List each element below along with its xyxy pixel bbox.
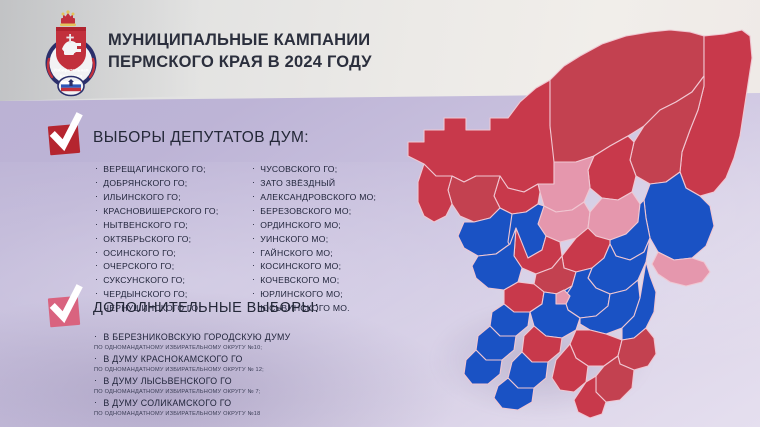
deputy-list-item: ·ЗАТО Звёздный: [252, 177, 397, 191]
deputy-list-item: ·Чусовского ГО;: [252, 163, 397, 177]
deputy-list-item: ·Ильинского ГО;: [95, 191, 240, 205]
deputy-list-item: ·Добрянского ГО;: [95, 177, 240, 191]
deputy-list-item-label: Чусовского ГО;: [260, 163, 337, 177]
deputy-list-item-label: Ординского МО;: [260, 219, 341, 233]
additional-list-item: ·В Березниковскую городскую думупо одном…: [94, 332, 387, 352]
deputy-list-item: ·Березовского МО;: [252, 205, 397, 219]
bullet-dot-icon: ·: [252, 275, 255, 284]
deputy-list-item-label: Красновишерского ГО;: [103, 205, 218, 219]
bullet-dot-icon: ·: [95, 192, 98, 201]
deputy-list-item: ·Косинского МО;: [252, 260, 397, 274]
bullet-dot-icon: ·: [252, 164, 255, 173]
additional-item-district: по одномандатному избирательному округу …: [94, 410, 387, 418]
slide-root: Избирательная Комиссия Муниципальные кам…: [0, 0, 760, 427]
deputy-list-item-label: Ильинского ГО;: [103, 191, 181, 205]
additional-list-item: ·В думу Соликамского ГОпо одномандатному…: [94, 398, 387, 418]
checkmark-icon-red: [46, 120, 86, 158]
section-deputy-header: Выборы депутатов дум:: [47, 120, 397, 157]
deputy-list-item: ·Гайнского МО;: [252, 247, 397, 261]
additional-item-title-label: В думу Лысьвенского ГО: [103, 376, 232, 388]
bullet-dot-icon: ·: [252, 220, 255, 229]
deputy-list-item: ·Нытвенского ГО;: [95, 219, 240, 233]
bullet-dot-icon: ·: [252, 261, 255, 270]
bullet-dot-icon: ·: [95, 164, 98, 173]
deputy-list-item-label: Октябрьского ГО;: [103, 233, 191, 247]
deputy-list-item-label: Очерского ГО;: [103, 260, 174, 274]
additional-item-district: по одномандатному избирательному округу …: [94, 366, 387, 374]
bullet-dot-icon: ·: [94, 376, 97, 385]
emblem-text-top: Избирательная: [53, 67, 88, 73]
deputy-list-item: ·Красновишерского ГО;: [95, 205, 240, 219]
deputy-list-item: ·Верещагинского ГО;: [95, 163, 240, 177]
deputy-list-item: ·Уинского МО;: [252, 233, 397, 247]
additional-item-title-label: В думу Соликамского ГО: [103, 398, 231, 410]
deputy-list-item-label: Гайнского МО;: [260, 247, 333, 261]
izbiratelnaya-komissiya-emblem: Избирательная Комиссия: [37, 9, 105, 97]
additional-item-title: ·В думу Соликамского ГО: [94, 398, 387, 410]
deputy-list-item: ·Октябрьского ГО;: [95, 233, 240, 247]
perm-krai-map: [404, 6, 760, 418]
deputy-list-item-label: Добрянского ГО;: [103, 177, 187, 191]
bullet-dot-icon: ·: [94, 398, 97, 407]
deputy-list-item: ·Суксунского ГО;: [95, 274, 240, 288]
bullet-dot-icon: ·: [95, 206, 98, 215]
additional-items-list: ·В Березниковскую городскую думупо одном…: [47, 332, 387, 418]
section-additional-header: Дополнительные выборы:: [47, 292, 387, 329]
bullet-dot-icon: ·: [95, 220, 98, 229]
bullet-dot-icon: ·: [252, 192, 255, 201]
additional-list-item: ·В думу Краснокамского ГОпо одномандатно…: [94, 354, 387, 374]
deputy-list-item-label: Косинского МО;: [260, 260, 341, 274]
deputy-list-item-label: Нытвенского ГО;: [103, 219, 188, 233]
deputy-list-item: ·Осинского ГО;: [95, 247, 240, 261]
section-deputy-title: Выборы депутатов дум:: [93, 120, 309, 147]
deputy-list-item-label: Верещагинского ГО;: [103, 163, 206, 177]
deputy-list-item-label: ЗАТО Звёздный: [260, 177, 335, 191]
deputy-list-item-label: Уинского МО;: [260, 233, 328, 247]
bullet-dot-icon: ·: [252, 206, 255, 215]
bullet-dot-icon: ·: [252, 248, 255, 257]
deputy-list-item-label: Березовского МО;: [260, 205, 351, 219]
bullet-dot-icon: ·: [95, 234, 98, 243]
page-title: Муниципальные кампании Пермского края в …: [108, 30, 438, 74]
additional-item-title: ·В думу Лысьвенского ГО: [94, 376, 387, 388]
bullet-dot-icon: ·: [252, 178, 255, 187]
additional-item-title-label: В думу Краснокамского ГО: [103, 354, 242, 366]
bullet-dot-icon: ·: [95, 275, 98, 284]
checkmark-icon-pink: [46, 292, 86, 330]
deputy-list-item-label: Александровского МО;: [260, 191, 376, 205]
bullet-dot-icon: ·: [94, 354, 97, 363]
bullet-dot-icon: ·: [95, 178, 98, 187]
section-deputy-elections: Выборы депутатов дум: ·Верещагинского ГО…: [47, 120, 397, 316]
additional-item-title-label: В Березниковскую городскую думу: [103, 332, 290, 344]
deputy-list-item: ·Александровского МО;: [252, 191, 397, 205]
additional-item-title: ·В думу Краснокамского ГО: [94, 354, 387, 366]
deputy-list-item-label: Кочевского МО;: [260, 274, 339, 288]
additional-list-item: ·В думу Лысьвенского ГОпо одномандатному…: [94, 376, 387, 396]
additional-item-district: по одномандатному избирательному округу …: [94, 344, 387, 352]
bullet-dot-icon: ·: [95, 248, 98, 257]
bullet-dot-icon: ·: [252, 234, 255, 243]
section-additional-title: Дополнительные выборы:: [93, 292, 319, 316]
section-additional-elections: Дополнительные выборы: ·В Березниковскую…: [47, 292, 387, 420]
deputy-list-item-label: Суксунского ГО;: [103, 274, 185, 288]
deputy-list-item-label: Осинского ГО;: [103, 247, 176, 261]
additional-item-title: ·В Березниковскую городскую думу: [94, 332, 387, 344]
deputy-list-item: ·Кочевского МО;: [252, 274, 397, 288]
bullet-dot-icon: ·: [94, 332, 97, 341]
deputy-list-item: ·Очерского ГО;: [95, 260, 240, 274]
additional-item-district: по одномандатному избирательному округу …: [94, 388, 387, 396]
bullet-dot-icon: ·: [95, 261, 98, 270]
deputy-list-item: ·Ординского МО;: [252, 219, 397, 233]
